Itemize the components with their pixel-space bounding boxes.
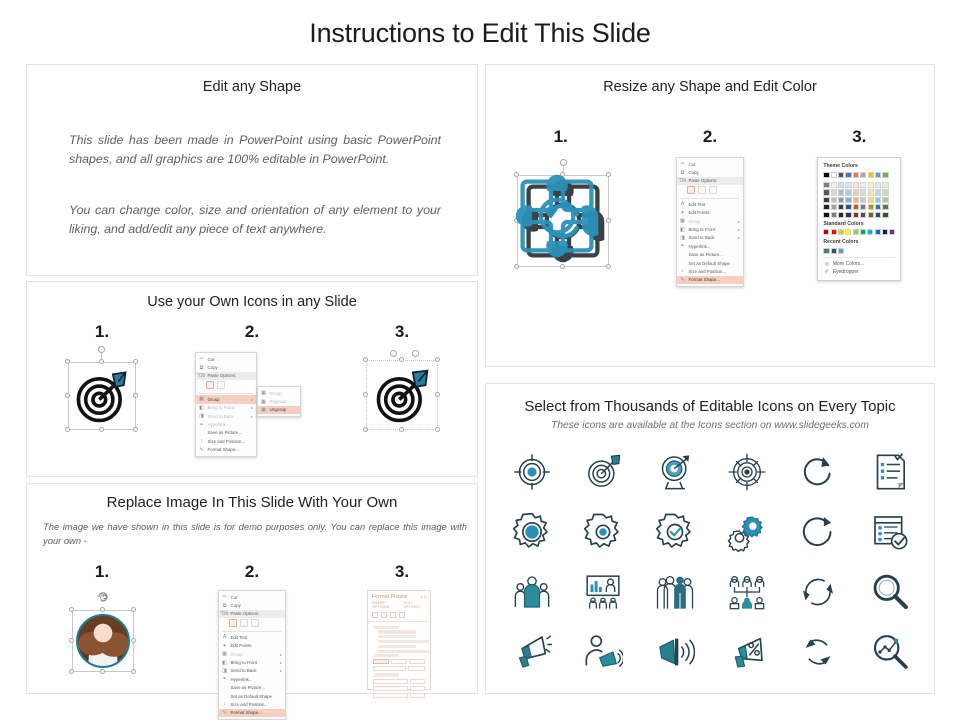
menu-item-edit-points[interactable]: ✦Edit Points	[677, 209, 743, 217]
color-swatch[interactable]	[853, 172, 859, 178]
submenu-arrow-icon: ▸	[251, 405, 253, 410]
paste-option-button[interactable]	[687, 186, 695, 194]
color-swatch[interactable]	[823, 172, 829, 178]
megaphone-percent-icon[interactable]	[725, 630, 769, 674]
color-swatch[interactable]	[838, 248, 844, 254]
submenu-arrow-icon: ▸	[251, 397, 253, 402]
menu-separator	[680, 198, 740, 199]
color-swatch[interactable]	[860, 212, 866, 218]
replace-image-note: The image we have shown in this slide is…	[43, 520, 467, 548]
step-number: 1.	[95, 562, 109, 582]
menu-item-set-as-default-shape[interactable]: Set as Default Shape	[677, 259, 743, 267]
menu-item-glyph-icon: Ὄb	[198, 372, 205, 379]
menu-item-hyperlink[interactable]: ⚭Hyperlink...	[196, 420, 256, 428]
circular-arrow-icon[interactable]	[796, 510, 840, 554]
gear-outline-icon[interactable]	[581, 510, 625, 554]
more-colors-item-label: More Colors...	[833, 261, 864, 267]
color-picker-popup[interactable]: Theme ColorsStandard ColorsRecent Colors…	[817, 157, 901, 281]
gear-solid-icon[interactable]	[510, 510, 554, 554]
format-pane-close-icon[interactable]: ▾ ✕	[421, 591, 430, 599]
menu-item-edit-points[interactable]: ✦Edit Points	[219, 642, 285, 650]
more-colors-item[interactable]: ◎More Colors...	[823, 260, 895, 268]
menu-item-hyperlink[interactable]: ⚭Hyperlink...	[219, 675, 285, 683]
paste-option-button[interactable]	[229, 619, 237, 627]
rotate-arrows-icon[interactable]	[796, 630, 840, 674]
menu-item-label: Set as Default Shape	[231, 694, 283, 699]
menu-item-label: Paste Options:	[208, 373, 254, 378]
color-swatch[interactable]	[845, 204, 851, 210]
submenu-arrow-icon: ▸	[251, 414, 253, 419]
color-swatch[interactable]	[868, 197, 874, 203]
menu-item-label: Edit Points	[688, 210, 740, 215]
refresh-arrow-icon[interactable]	[796, 450, 840, 494]
menu-item-glyph-icon: ✎	[679, 276, 686, 283]
color-swatch[interactable]	[875, 197, 881, 203]
menu-item-label: Hyperlink...	[231, 677, 283, 682]
person-megaphone-icon[interactable]	[581, 630, 625, 674]
sync-arrows-icon[interactable]	[796, 570, 840, 614]
paste-option-button[interactable]	[709, 186, 717, 194]
gear-check-icon[interactable]	[653, 510, 697, 554]
menu-item-cut[interactable]: ✂Cut	[677, 160, 743, 168]
menu-separator	[199, 393, 253, 394]
submenu-item-label: Ungroup	[270, 407, 298, 412]
menu-item-glyph-icon: ✂	[198, 356, 205, 363]
menu-item-send-to-back[interactable]: ◨Send to Back▸	[219, 667, 285, 675]
menu-item-glyph-icon: ⧉	[198, 364, 205, 371]
magnifier-icon[interactable]	[868, 570, 912, 614]
recent-colors-label: Recent Colors	[823, 239, 895, 245]
menu-item-size-and-position[interactable]: ↕Size and Position...	[677, 267, 743, 275]
menu-item-label: Save as Picture...	[208, 430, 254, 435]
double-gear-icon[interactable]	[725, 510, 769, 554]
color-swatch[interactable]	[882, 229, 888, 235]
menu-item-glyph-icon: ▦	[679, 218, 686, 225]
color-swatch[interactable]	[838, 182, 844, 188]
menu-item-glyph-icon: ✂	[221, 594, 228, 601]
four-quadrant-teal-overlay-icon	[514, 173, 600, 259]
menu-item-glyph-icon: A	[679, 201, 686, 208]
menu-item-glyph-icon: ↕	[221, 701, 228, 708]
color-swatch[interactable]	[882, 197, 888, 203]
page-title: Instructions to Edit This Slide	[0, 18, 960, 49]
menu-item-glyph-icon: ◨	[679, 234, 686, 241]
color-swatch[interactable]	[868, 182, 874, 188]
menu-item-format-shape[interactable]: ✎Format Shape...	[219, 709, 285, 717]
menu-item-label: Size and Position...	[231, 702, 283, 707]
submenu-item-ungroup[interactable]: ▦Ungroup	[258, 406, 300, 414]
shape-context-menu-graphic: ✂Cut⧉CopyὌbPaste Options:AEdit Text✦Edit…	[650, 153, 770, 293]
resizable-shape-graphic	[501, 153, 621, 293]
menu-item-label: Copy	[208, 365, 254, 370]
color-swatch[interactable]	[875, 182, 881, 188]
menu-item-size-and-position[interactable]: ↕Size and Position...	[219, 700, 285, 708]
format-pane-tab-shape[interactable]: SHAPE OPTIONS	[372, 601, 398, 609]
context-menu-shape[interactable]: ✂Cut⧉CopyὌbPaste Options:AEdit Text✦Edit…	[676, 157, 744, 287]
team-standing-icon[interactable]	[653, 570, 697, 614]
color-swatch[interactable]	[875, 204, 881, 210]
menu-item-label: Bring to Front	[208, 405, 248, 410]
avatar	[76, 614, 130, 668]
menu-item-label: Bring to Front	[231, 660, 277, 665]
step-number: 3.	[852, 127, 866, 147]
menu-item-format-shape[interactable]: ✎Format Shape...	[196, 446, 256, 454]
color-swatch[interactable]	[823, 229, 829, 235]
target-arrow-icon	[73, 367, 131, 425]
menu-item-glyph-icon: ◧	[679, 226, 686, 233]
menu-item-label: Edit Text	[688, 202, 740, 207]
color-swatch[interactable]	[831, 229, 837, 235]
panel-edit-any-shape: Edit any Shape This slide has been made …	[26, 64, 478, 276]
menu-item-send-to-back[interactable]: ◨Send to Back▸	[677, 234, 743, 242]
menu-item-label: Group	[231, 652, 277, 657]
paste-options-row[interactable]	[677, 185, 743, 196]
color-swatch[interactable]	[823, 204, 829, 210]
own-icons-step-2: 2. ✂Cut⧉CopyὌbPaste Options:▦Group▸◧Brin…	[177, 322, 327, 448]
menu-item-paste-options[interactable]: ὌbPaste Options:	[219, 610, 285, 618]
paste-option-button[interactable]	[206, 381, 214, 389]
target-stand-icon[interactable]	[653, 450, 697, 494]
submenu-item-label: Regroup	[270, 399, 298, 404]
menu-item-size-and-position[interactable]: ↕Size and Position...	[196, 437, 256, 445]
menu-item-glyph-icon: ⚭	[221, 676, 228, 683]
menu-item-bring-to-front[interactable]: ◧Bring to Front▸	[677, 225, 743, 233]
own-icons-step-1: 1.	[27, 322, 177, 448]
menu-item-glyph-icon	[679, 260, 686, 267]
menu-item-label: Save as Picture...	[688, 252, 740, 257]
color-swatch[interactable]	[831, 172, 837, 178]
target-arrow-icon[interactable]	[581, 450, 625, 494]
color-swatch[interactable]	[882, 204, 888, 210]
color-swatch[interactable]	[875, 212, 881, 218]
menu-item-label: Paste Options:	[231, 611, 283, 616]
color-swatch[interactable]	[875, 172, 881, 178]
menu-item-send-to-back[interactable]: ◨Send to Back▸	[196, 412, 256, 420]
panel-title-replace-image: Replace Image In This Slide With Your Ow…	[27, 494, 477, 511]
step-number: 1.	[95, 322, 109, 342]
color-swatch[interactable]	[831, 182, 837, 188]
presentation-audience-icon[interactable]	[581, 570, 625, 614]
color-swatch[interactable]	[831, 204, 837, 210]
menu-item-format-shape[interactable]: ✎Format Shape...	[677, 276, 743, 284]
menu-item-label: Format Shape...	[688, 277, 740, 282]
paste-option-button[interactable]	[251, 619, 259, 627]
paste-option-button[interactable]	[698, 186, 706, 194]
resize-steps-row: 1.	[486, 127, 934, 293]
color-swatch[interactable]	[838, 197, 844, 203]
fill-icon[interactable]	[372, 612, 378, 618]
context-menu-picture[interactable]: ✂Cut⧉CopyὌbPaste Options:AEdit Text✦Edit…	[218, 590, 286, 720]
color-swatch[interactable]	[853, 212, 859, 218]
color-swatch[interactable]	[845, 182, 851, 188]
menu-item-group[interactable]: ▦Group▸	[196, 395, 256, 403]
menu-item-label: Cut	[208, 357, 254, 362]
color-picker-separator	[823, 257, 895, 258]
menu-item-glyph-icon: ◧	[221, 659, 228, 666]
menu-item-label: Size and Position...	[208, 439, 254, 444]
color-swatch[interactable]	[853, 229, 859, 235]
panel-resize-shape: Resize any Shape and Edit Color 1.	[485, 64, 935, 367]
theme-colors-tint-row	[823, 182, 895, 188]
effects-icon[interactable]	[381, 612, 387, 618]
color-swatch[interactable]	[823, 197, 829, 203]
own-icons-steps-row: 1.	[27, 322, 477, 448]
menu-item-label: Send to Back	[208, 414, 248, 419]
replace-image-step-2: 2. ✂Cut⧉CopyὌbPaste Options:AEdit Text✦E…	[177, 562, 327, 693]
color-swatch[interactable]	[823, 212, 829, 218]
menu-item-glyph-icon: Ὄb	[221, 610, 228, 617]
menu-item-glyph-icon: ↕	[679, 268, 686, 275]
standard-colors-label: Standard Colors	[823, 221, 895, 227]
menu-item-paste-options[interactable]: ὌbPaste Options:	[677, 177, 743, 185]
picture-icon[interactable]	[399, 612, 405, 618]
color-swatch[interactable]	[868, 204, 874, 210]
eyedropper-item[interactable]: ✐Eyedropper	[823, 268, 895, 276]
submenu-arrow-icon: ▸	[280, 660, 282, 665]
menu-separator	[222, 631, 282, 632]
menu-item-cut[interactable]: ✂Cut	[196, 355, 256, 363]
menu-item-glyph-icon	[679, 251, 686, 258]
submenu-arrow-icon: ▸	[280, 652, 282, 657]
icon-grid	[496, 442, 926, 682]
panel-replace-image: Replace Image In This Slide With Your Ow…	[26, 483, 478, 694]
color-swatch[interactable]	[853, 204, 859, 210]
format-pane-title: Format Picture	[368, 591, 411, 601]
menu-item-save-as-picture[interactable]: Save as Picture...	[219, 684, 285, 692]
format-picture-pane[interactable]: Format Picture ▾ ✕ SHAPE OPTIONS TEXT OP…	[367, 590, 431, 690]
eyedropper-item-label: Eyedropper	[833, 269, 859, 275]
color-swatch[interactable]	[860, 189, 866, 195]
paste-options-row[interactable]	[219, 618, 285, 629]
panel-editable-icons: Select from Thousands of Editable Icons …	[485, 383, 935, 694]
theme-colors-tint-row	[823, 189, 895, 195]
menu-item-label: Copy	[231, 603, 283, 608]
color-swatch[interactable]	[875, 189, 881, 195]
color-swatch[interactable]	[860, 182, 866, 188]
document-approved-icon[interactable]	[868, 510, 912, 554]
ungroup-context-menu-graphic: ✂Cut⧉CopyὌbPaste Options:▦Group▸◧Bring t…	[187, 348, 317, 448]
submenu-arrow-icon: ▸	[738, 227, 740, 232]
menu-item-glyph-icon: ✎	[221, 709, 228, 716]
color-swatch[interactable]	[831, 248, 837, 254]
menu-item-group[interactable]: ▦Group▸	[219, 650, 285, 658]
menu-item-glyph-icon: A	[221, 634, 228, 641]
color-swatch[interactable]	[823, 189, 829, 195]
crosshair-target-icon[interactable]	[510, 450, 554, 494]
color-swatch[interactable]	[838, 229, 844, 235]
picture-context-menu-graphic: ✂Cut⧉CopyὌbPaste Options:AEdit Text✦Edit…	[192, 588, 312, 693]
color-swatch[interactable]	[860, 172, 866, 178]
menu-item-glyph-icon: ⚭	[198, 421, 205, 428]
format-pane-tab-text[interactable]: TEXT OPTIONS	[403, 601, 426, 609]
color-swatch[interactable]	[853, 182, 859, 188]
paste-options-row[interactable]	[196, 380, 256, 391]
submenu-item-group[interactable]: ▦Group	[258, 389, 300, 397]
menu-item-label: Cut	[688, 162, 740, 167]
menu-item-label: Size and Position...	[688, 269, 740, 274]
menu-item-bring-to-front[interactable]: ◧Bring to Front▸	[196, 404, 256, 412]
menu-item-paste-options[interactable]: ὌbPaste Options:	[196, 372, 256, 380]
color-swatch[interactable]	[868, 212, 874, 218]
color-swatch[interactable]	[889, 229, 895, 235]
submenu-arrow-icon: ▸	[738, 219, 740, 224]
panel-title-edit-shape: Edit any Shape	[27, 79, 477, 95]
panel-subtitle-icons: These icons are available at the Icons s…	[486, 420, 934, 431]
submenu-item-regroup[interactable]: ▦Regroup	[258, 397, 300, 405]
color-swatch[interactable]	[860, 204, 866, 210]
checklist-document-icon[interactable]	[868, 450, 912, 494]
menu-item-glyph-icon: ⚭	[679, 243, 686, 250]
target-ungrouped-graphic	[360, 348, 444, 448]
format-picture-pane-graphic: Format Picture ▾ ✕ SHAPE OPTIONS TEXT OP…	[347, 588, 457, 693]
color-swatch[interactable]	[882, 189, 888, 195]
menu-item-label: Save as Picture...	[231, 685, 283, 690]
color-swatch[interactable]	[868, 172, 874, 178]
color-swatch[interactable]	[853, 197, 859, 203]
menu-item-label: Set as Default Shape	[688, 261, 740, 266]
color-swatch[interactable]	[853, 189, 859, 195]
resize-step-3: 3. Theme ColorsStandard ColorsRecent Col…	[785, 127, 934, 293]
color-swatch[interactable]	[845, 189, 851, 195]
menu-item-copy[interactable]: ⧉Copy	[219, 601, 285, 609]
color-swatch[interactable]	[838, 172, 844, 178]
theme-colors-tint-row	[823, 204, 895, 210]
menu-item-cut[interactable]: ✂Cut	[219, 593, 285, 601]
context-submenu-group[interactable]: ▦Group▦Regroup▦Ungroup	[257, 386, 301, 417]
panel-title-resize: Resize any Shape and Edit Color	[486, 79, 934, 95]
resize-step-2: 2. ✂Cut⧉CopyὌbPaste Options:AEdit Text✦E…	[635, 127, 784, 293]
menu-item-label: Bring to Front	[688, 227, 734, 232]
speaker-sound-icon[interactable]	[653, 630, 697, 674]
submenu-item-glyph-icon: ▦	[260, 406, 267, 413]
color-swatch[interactable]	[875, 229, 881, 235]
replace-image-step-1: 1.	[27, 562, 177, 693]
color-swatch[interactable]	[882, 212, 888, 218]
replace-image-step-3: 3. Format Picture ▾ ✕ SHAPE OPTIONS TEXT…	[327, 562, 477, 693]
paste-option-button[interactable]	[217, 381, 225, 389]
edit-shape-paragraph-1: This slide has been made in PowerPoint u…	[69, 131, 441, 169]
people-group-icon[interactable]	[510, 570, 554, 614]
menu-item-edit-text[interactable]: AEdit Text	[219, 633, 285, 641]
color-swatch[interactable]	[831, 189, 837, 195]
menu-item-glyph-icon: ✦	[679, 209, 686, 216]
menu-item-save-as-picture[interactable]: Save as Picture...	[196, 429, 256, 437]
color-swatch[interactable]	[823, 182, 829, 188]
menu-item-glyph-icon: ✂	[679, 161, 686, 168]
menu-item-label: Cut	[231, 595, 283, 600]
menu-item-set-as-default-shape[interactable]: Set as Default Shape	[219, 692, 285, 700]
menu-item-copy[interactable]: ⧉Copy	[677, 168, 743, 176]
step-number: 2.	[245, 562, 259, 582]
menu-item-glyph-icon	[221, 684, 228, 691]
theme-colors-label: Theme Colors	[823, 163, 895, 169]
color-swatch[interactable]	[838, 189, 844, 195]
rotate-handle-icon[interactable]	[96, 590, 110, 604]
theme-colors-grid	[823, 172, 895, 218]
recent-colors-row	[823, 248, 895, 254]
context-menu-group[interactable]: ✂Cut⧉CopyὌbPaste Options:▦Group▸◧Bring t…	[195, 352, 257, 457]
menu-item-glyph-icon: ⧉	[679, 169, 686, 176]
color-swatch[interactable]	[867, 229, 873, 235]
step-number: 3.	[395, 562, 409, 582]
org-chart-team-icon[interactable]	[725, 570, 769, 614]
color-swatch[interactable]	[860, 229, 866, 235]
size-icon[interactable]	[390, 612, 396, 618]
menu-item-save-as-picture[interactable]: Save as Picture...	[677, 251, 743, 259]
grid-spacer	[823, 235, 895, 238]
color-swatch[interactable]	[845, 197, 851, 203]
menu-item-glyph-icon: ↕	[198, 438, 205, 445]
color-swatch[interactable]	[831, 197, 837, 203]
step-number: 1.	[554, 127, 568, 147]
target-arrow-ungrouped-icon	[373, 367, 431, 425]
color-swatch[interactable]	[831, 212, 837, 218]
color-swatch[interactable]	[838, 212, 844, 218]
menu-item-label: Send to Back	[231, 668, 277, 673]
color-swatch[interactable]	[868, 189, 874, 195]
target-selected-graphic	[60, 348, 144, 448]
color-swatch[interactable]	[845, 212, 851, 218]
grid-spacer	[823, 179, 895, 181]
magnifier-chart-icon[interactable]	[868, 630, 912, 674]
edit-shape-paragraph-2: You can change color, size and orientati…	[69, 201, 441, 239]
menu-item-glyph-icon: ◨	[198, 413, 205, 420]
menu-item-glyph-icon	[198, 429, 205, 436]
theme-colors-tint-row	[823, 197, 895, 203]
menu-item-copy[interactable]: ⧉Copy	[196, 363, 256, 371]
menu-item-edit-text[interactable]: AEdit Text	[677, 200, 743, 208]
portrait-selected-graphic	[60, 588, 144, 688]
menu-item-glyph-icon: ◨	[221, 667, 228, 674]
megaphone-icon[interactable]	[510, 630, 554, 674]
color-swatch[interactable]	[845, 172, 851, 178]
color-picker-graphic: Theme ColorsStandard ColorsRecent Colors…	[799, 153, 919, 293]
submenu-item-label: Group	[270, 391, 298, 396]
menu-item-label: Hyperlink...	[688, 244, 740, 249]
paste-option-button[interactable]	[240, 619, 248, 627]
menu-item-glyph-icon: ▦	[198, 396, 205, 403]
menu-item-hyperlink[interactable]: ⚭Hyperlink...	[677, 242, 743, 250]
crosshair-scope-icon[interactable]	[725, 450, 769, 494]
step-number: 2.	[245, 322, 259, 342]
submenu-arrow-icon: ▸	[738, 235, 740, 240]
menu-item-glyph-icon: ⧉	[221, 602, 228, 609]
menu-item-bring-to-front[interactable]: ◧Bring to Front▸	[219, 658, 285, 666]
color-swatch[interactable]	[845, 229, 851, 235]
menu-item-glyph-icon: ✎	[198, 446, 205, 453]
color-swatch[interactable]	[882, 182, 888, 188]
palette-icon: ◎	[823, 261, 830, 268]
menu-item-label: Copy	[688, 170, 740, 175]
standard-colors-row	[823, 229, 895, 235]
menu-item-label: Send to Back	[688, 235, 734, 240]
menu-item-group[interactable]: ▦Group▸	[677, 217, 743, 225]
color-swatch[interactable]	[823, 248, 829, 254]
menu-item-label: Format Shape...	[231, 710, 283, 715]
eyedropper-icon: ✐	[823, 269, 830, 276]
menu-item-label: Edit Text	[231, 635, 283, 640]
color-swatch[interactable]	[860, 197, 866, 203]
menu-item-label: Group	[208, 397, 248, 402]
panel-title-own-icons: Use your Own Icons in any Slide	[27, 294, 477, 310]
color-swatch[interactable]	[882, 172, 888, 178]
color-swatch[interactable]	[838, 204, 844, 210]
theme-colors-base-row	[823, 172, 895, 178]
menu-item-label: Format Shape...	[208, 447, 254, 452]
submenu-item-glyph-icon: ▦	[260, 398, 267, 405]
resize-step-1: 1.	[486, 127, 635, 293]
menu-item-glyph-icon: Ὄb	[679, 177, 686, 184]
